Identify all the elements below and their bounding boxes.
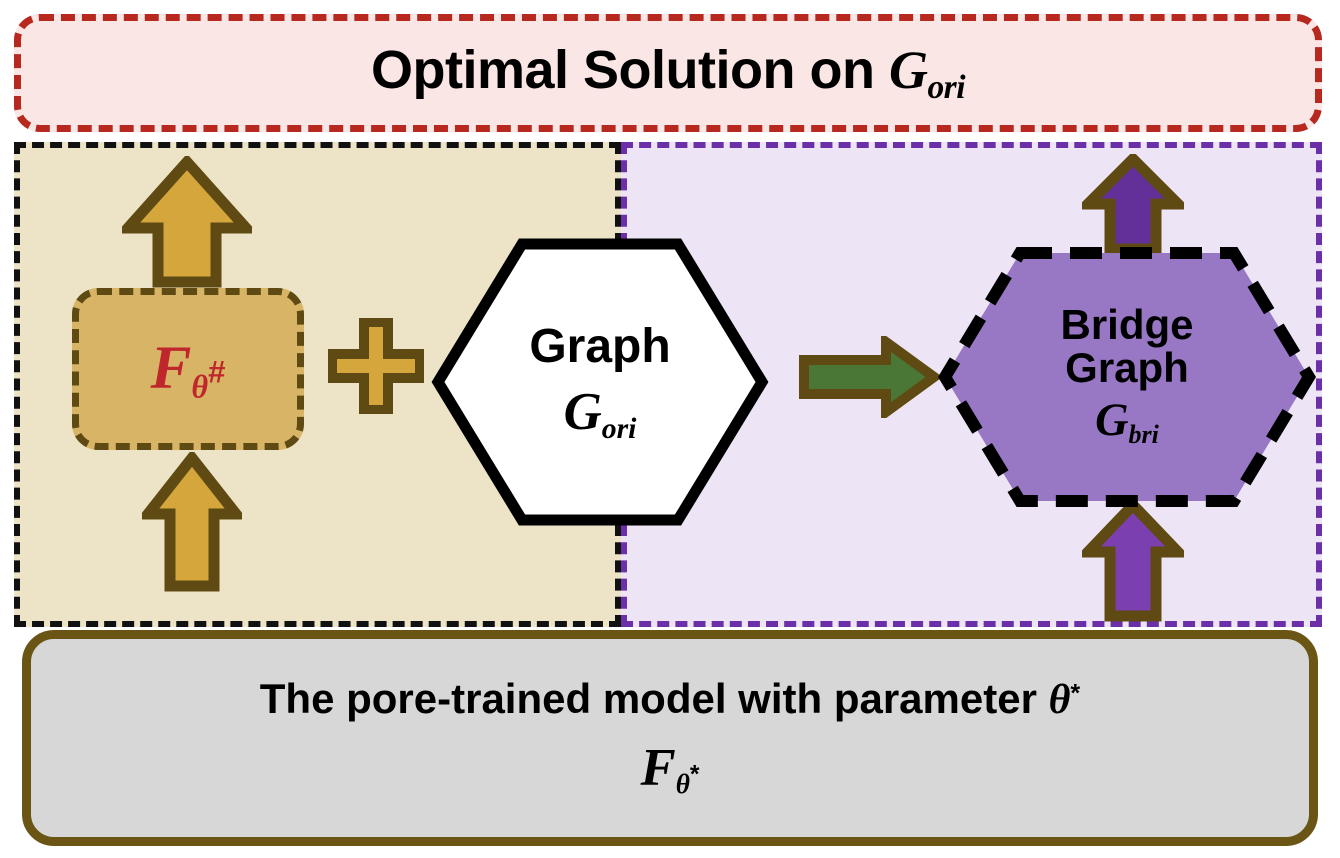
arrow-up-to-optimal-left — [122, 156, 252, 288]
arrow-up-from-pretrained-right — [1082, 500, 1184, 622]
original-graph-hexagon: Graph Gori — [430, 236, 770, 528]
pretrained-f-base: F — [641, 739, 676, 797]
banner-symbol-sub: ori — [927, 69, 965, 106]
diagram-canvas: Optimal Solution on Gori Fθ# Graph Gori — [0, 0, 1340, 858]
optimal-solution-banner: Optimal Solution on Gori — [14, 14, 1322, 132]
pretrained-theta-sup: * — [1070, 680, 1080, 708]
pretrained-f-sup: * — [690, 762, 700, 789]
pretrained-theta-symbol: θ — [1049, 677, 1071, 723]
bridge-graph-hexagon-shape — [938, 246, 1316, 508]
banner-symbol-base: G — [889, 40, 928, 100]
pretrained-model-symbol: Fθ* — [641, 738, 700, 800]
graph-to-bridge-arrow — [798, 336, 940, 418]
optimal-solution-label: Optimal Solution on Gori — [371, 39, 965, 107]
arrow-up-to-optimal-right — [1082, 154, 1184, 254]
pretrained-model-box: The pore-trained model with parameter θ*… — [22, 630, 1318, 846]
pretrained-f-sub: θ — [676, 770, 690, 800]
original-graph-hexagon-shape — [430, 236, 770, 528]
pretrained-text-prefix: The pore-trained model with parameter — [260, 675, 1049, 722]
pretrained-model-description: The pore-trained model with parameter θ* — [260, 675, 1080, 724]
ftheta-sub: θ — [191, 368, 208, 404]
ftheta-base: F — [150, 334, 191, 402]
plus-operator-icon — [328, 318, 424, 414]
bridge-graph-hexagon: Bridge Graph Gbri — [938, 246, 1316, 508]
finetuned-model-box: Fθ# — [72, 288, 304, 450]
ftheta-sup: # — [208, 354, 225, 389]
finetuned-model-label: Fθ# — [150, 333, 225, 406]
arrow-up-from-pretrained-left — [142, 452, 242, 592]
banner-text-prefix: Optimal Solution on — [371, 40, 889, 100]
